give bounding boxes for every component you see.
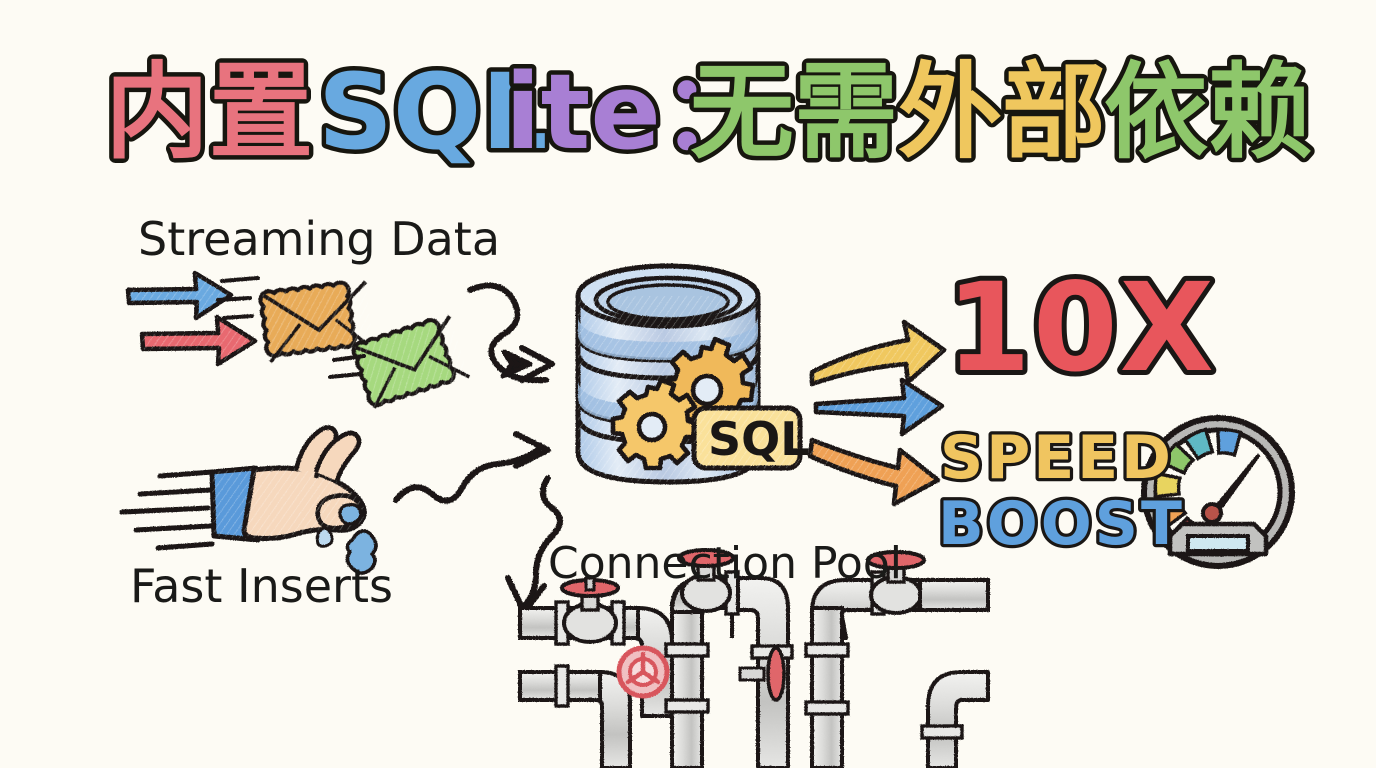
svg-text:依赖: 依赖 [1104, 51, 1312, 173]
svg-text:Connection Pool: Connection Pool [548, 538, 902, 589]
svg-text:10X: 10X [946, 257, 1216, 399]
svg-text:外部: 外部 [898, 51, 1106, 173]
hand-to-db-arrow [396, 434, 548, 501]
title-group: 内置 SQL ite： 无需 外部 依赖 [105, 51, 1312, 173]
hand-dropping-icon [212, 427, 364, 540]
db-to-speed-blue-arrow [816, 380, 942, 434]
svg-text:SPEED: SPEED [940, 423, 1174, 493]
infographic-canvas: 内置 SQL ite： 无需 外部 依赖 10X SPEED BOOST Str… [0, 0, 1376, 768]
illustration-layer: 内置 SQL ite： 无需 外部 依赖 10X SPEED BOOST Str… [0, 0, 1376, 768]
svg-text:内置: 内置 [105, 51, 313, 173]
motion-lines-top [218, 278, 258, 318]
svg-text:Streaming Data: Streaming Data [138, 212, 500, 266]
svg-text:无需: 无需 [690, 51, 898, 173]
svg-text:BOOST: BOOST [938, 489, 1185, 559]
sql-tag-text: SQL [708, 412, 810, 466]
db-to-speed-yellow-arrow [812, 322, 944, 384]
streaming-blue-arrow [128, 273, 231, 318]
svg-text:Fast Inserts: Fast Inserts [130, 559, 393, 613]
db-to-speed-orange-arrow [810, 440, 938, 504]
motion-lines-hand [122, 472, 212, 548]
streaming-red-arrow [142, 317, 255, 364]
envelope-to-db-arrow [470, 286, 552, 381]
